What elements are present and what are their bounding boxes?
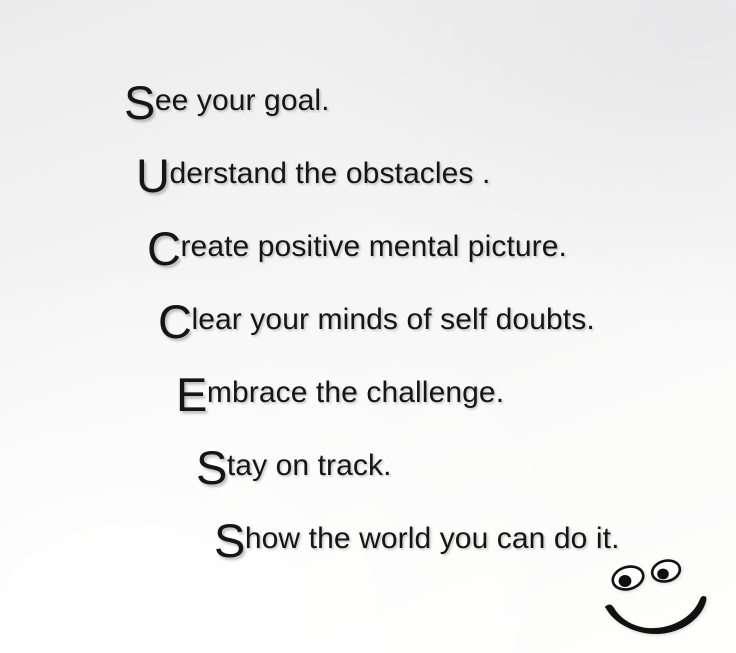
drop-cap-letter-s2: S [196,441,227,494]
acrostic-line-3: Create positive mental picture. [147,230,567,264]
drop-cap-letter-c1: C [147,222,180,275]
acrostic-line-5: Embrace the challenge. [176,376,504,410]
acrostic-line-7-text: how the world you can do it. [245,522,620,555]
drop-cap-letter-u: U [136,149,169,202]
acrostic-line-6: Stay on track. [196,449,392,483]
acrostic-line-6-text: tay on track. [227,449,392,482]
drop-cap-letter-e: E [176,368,207,421]
acrostic-line-4-text: lear your minds of self doubts. [191,303,594,336]
drop-cap-letter-s3: S [214,514,245,567]
poster-canvas: See your goal. Uderstand the obstacles .… [0,0,736,653]
smiley-face-icon [600,556,720,638]
acrostic-line-4: Clear your minds of self doubts. [158,303,595,337]
acrostic-line-5-text: mbrace the challenge. [207,376,504,409]
drop-cap-letter-s: S [124,76,155,129]
acrostic-line-3-text: reate positive mental picture. [180,230,567,263]
acrostic-line-1: See your goal. [124,84,330,118]
drop-cap-letter-c2: C [158,295,191,348]
acrostic-line-7: Show the world you can do it. [214,522,620,556]
acrostic-line-2-text: derstand the obstacles . [169,157,490,190]
acrostic-line-1-text: ee your goal. [155,84,330,117]
acrostic-line-2: Uderstand the obstacles . [136,157,490,191]
